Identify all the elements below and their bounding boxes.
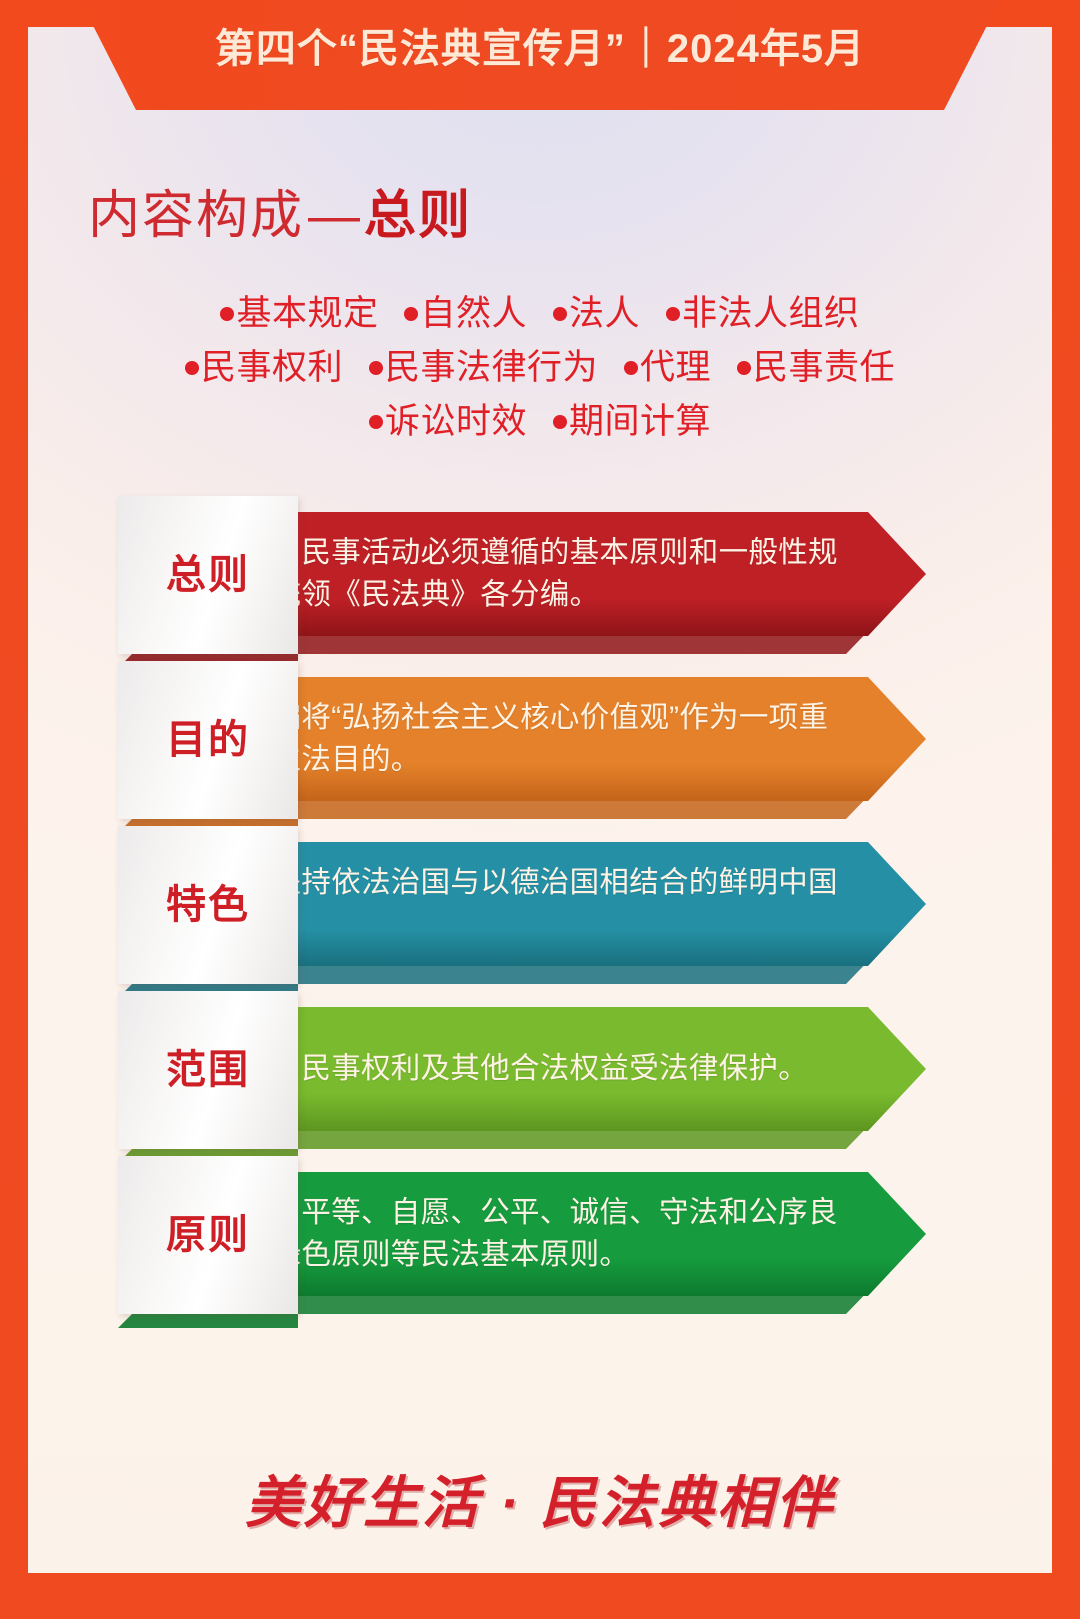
section-row: 总则编将“弘扬社会主义核心价值观”作为一项重要的立法目的。目的 xyxy=(0,661,1080,826)
keyword-row: 民事权利民事法律行为代理民事责任 xyxy=(28,346,1052,390)
bullet-dot-icon xyxy=(369,361,383,375)
keyword-row: 诉讼时效期间计算 xyxy=(28,400,1052,444)
section-label: 特色 xyxy=(166,885,250,925)
keyword-label: 代理 xyxy=(640,348,711,387)
page-title-dash: — xyxy=(304,187,364,245)
label-card-wedge xyxy=(118,1314,298,1328)
keyword-label: 法人 xyxy=(569,294,640,333)
bullet-dot-icon xyxy=(185,361,199,375)
keyword-label: 基本规定 xyxy=(236,294,378,333)
section-label-card: 总则 xyxy=(118,496,298,654)
bullet-dot-icon xyxy=(369,415,383,429)
bullet-dot-icon xyxy=(553,307,567,321)
keyword-item: 民事责任 xyxy=(737,346,895,390)
section-label-card: 特色 xyxy=(118,826,298,984)
section-label-card: 目的 xyxy=(118,661,298,819)
keyword-label: 民事责任 xyxy=(753,348,895,387)
footer-slogan: 美好生活 · 民法典相伴 xyxy=(0,1475,1080,1531)
keyword-list: 基本规定自然人法人非法人组织民事权利民事法律行为代理民事责任诉讼时效期间计算 xyxy=(28,292,1052,453)
bullet-dot-icon xyxy=(220,307,234,321)
keyword-item: 基本规定 xyxy=(220,292,378,336)
section-row: 规定了民事权利及其他合法权益受法律保护。范围 xyxy=(0,991,1080,1156)
keyword-item: 非法人组织 xyxy=(666,292,860,336)
keyword-item: 民事权利 xyxy=(185,346,343,390)
keyword-item: 代理 xyxy=(624,346,711,390)
section-label-card: 原则 xyxy=(118,1156,298,1314)
keyword-item: 民事法律行为 xyxy=(369,346,598,390)
keyword-row: 基本规定自然人法人非法人组织 xyxy=(28,292,1052,336)
keyword-item: 自然人 xyxy=(404,292,527,336)
page-title-lead: 内容构成 xyxy=(88,187,304,245)
page-title-emphasis: 总则 xyxy=(364,187,472,245)
header-banner: 第四个“民法典宣传月”｜2024年5月 xyxy=(28,0,1052,110)
keyword-label: 期间计算 xyxy=(569,402,711,441)
section-label: 目的 xyxy=(166,720,250,760)
header-title: 第四个“民法典宣传月”｜2024年5月 xyxy=(215,29,865,69)
keyword-label: 自然人 xyxy=(420,294,527,333)
bullet-dot-icon xyxy=(553,415,567,429)
section-label-card: 范围 xyxy=(118,991,298,1149)
keyword-item: 期间计算 xyxy=(553,400,711,444)
bullet-dot-icon xyxy=(737,361,751,375)
keyword-label: 非法人组织 xyxy=(682,294,860,333)
keyword-label: 民事权利 xyxy=(201,348,343,387)
keyword-item: 诉讼时效 xyxy=(369,400,527,444)
keyword-label: 诉讼时效 xyxy=(385,402,527,441)
page-title: 内容构成—总则 xyxy=(88,188,472,245)
bullet-dot-icon xyxy=(666,307,680,321)
section-row-list: 规定了民事活动必须遵循的基本原则和一般性规则，统领《民法典》各分编。总则总则编将… xyxy=(0,496,1080,1321)
section-label: 原则 xyxy=(166,1215,250,1255)
section-row: 规定了民事活动必须遵循的基本原则和一般性规则，统领《民法典》各分编。总则 xyxy=(0,496,1080,661)
section-row: 确立了平等、自愿、公平、诚信、守法和公序良俗、绿色原则等民法基本原则。原则 xyxy=(0,1156,1080,1321)
footer-slogan-text: 美好生活 · 民法典相伴 xyxy=(245,1475,835,1531)
keyword-item: 法人 xyxy=(553,292,640,336)
bullet-dot-icon xyxy=(404,307,418,321)
bullet-dot-icon xyxy=(624,361,638,375)
keyword-label: 民事法律行为 xyxy=(385,348,598,387)
section-label: 范围 xyxy=(166,1050,250,1090)
section-label: 总则 xyxy=(166,555,250,595)
poster: 第四个“民法典宣传月”｜2024年5月 内容构成—总则 基本规定自然人法人非法人… xyxy=(0,0,1080,1619)
section-row: 体现坚持依法治国与以德治国相结合的鲜明中国特色。特色 xyxy=(0,826,1080,991)
